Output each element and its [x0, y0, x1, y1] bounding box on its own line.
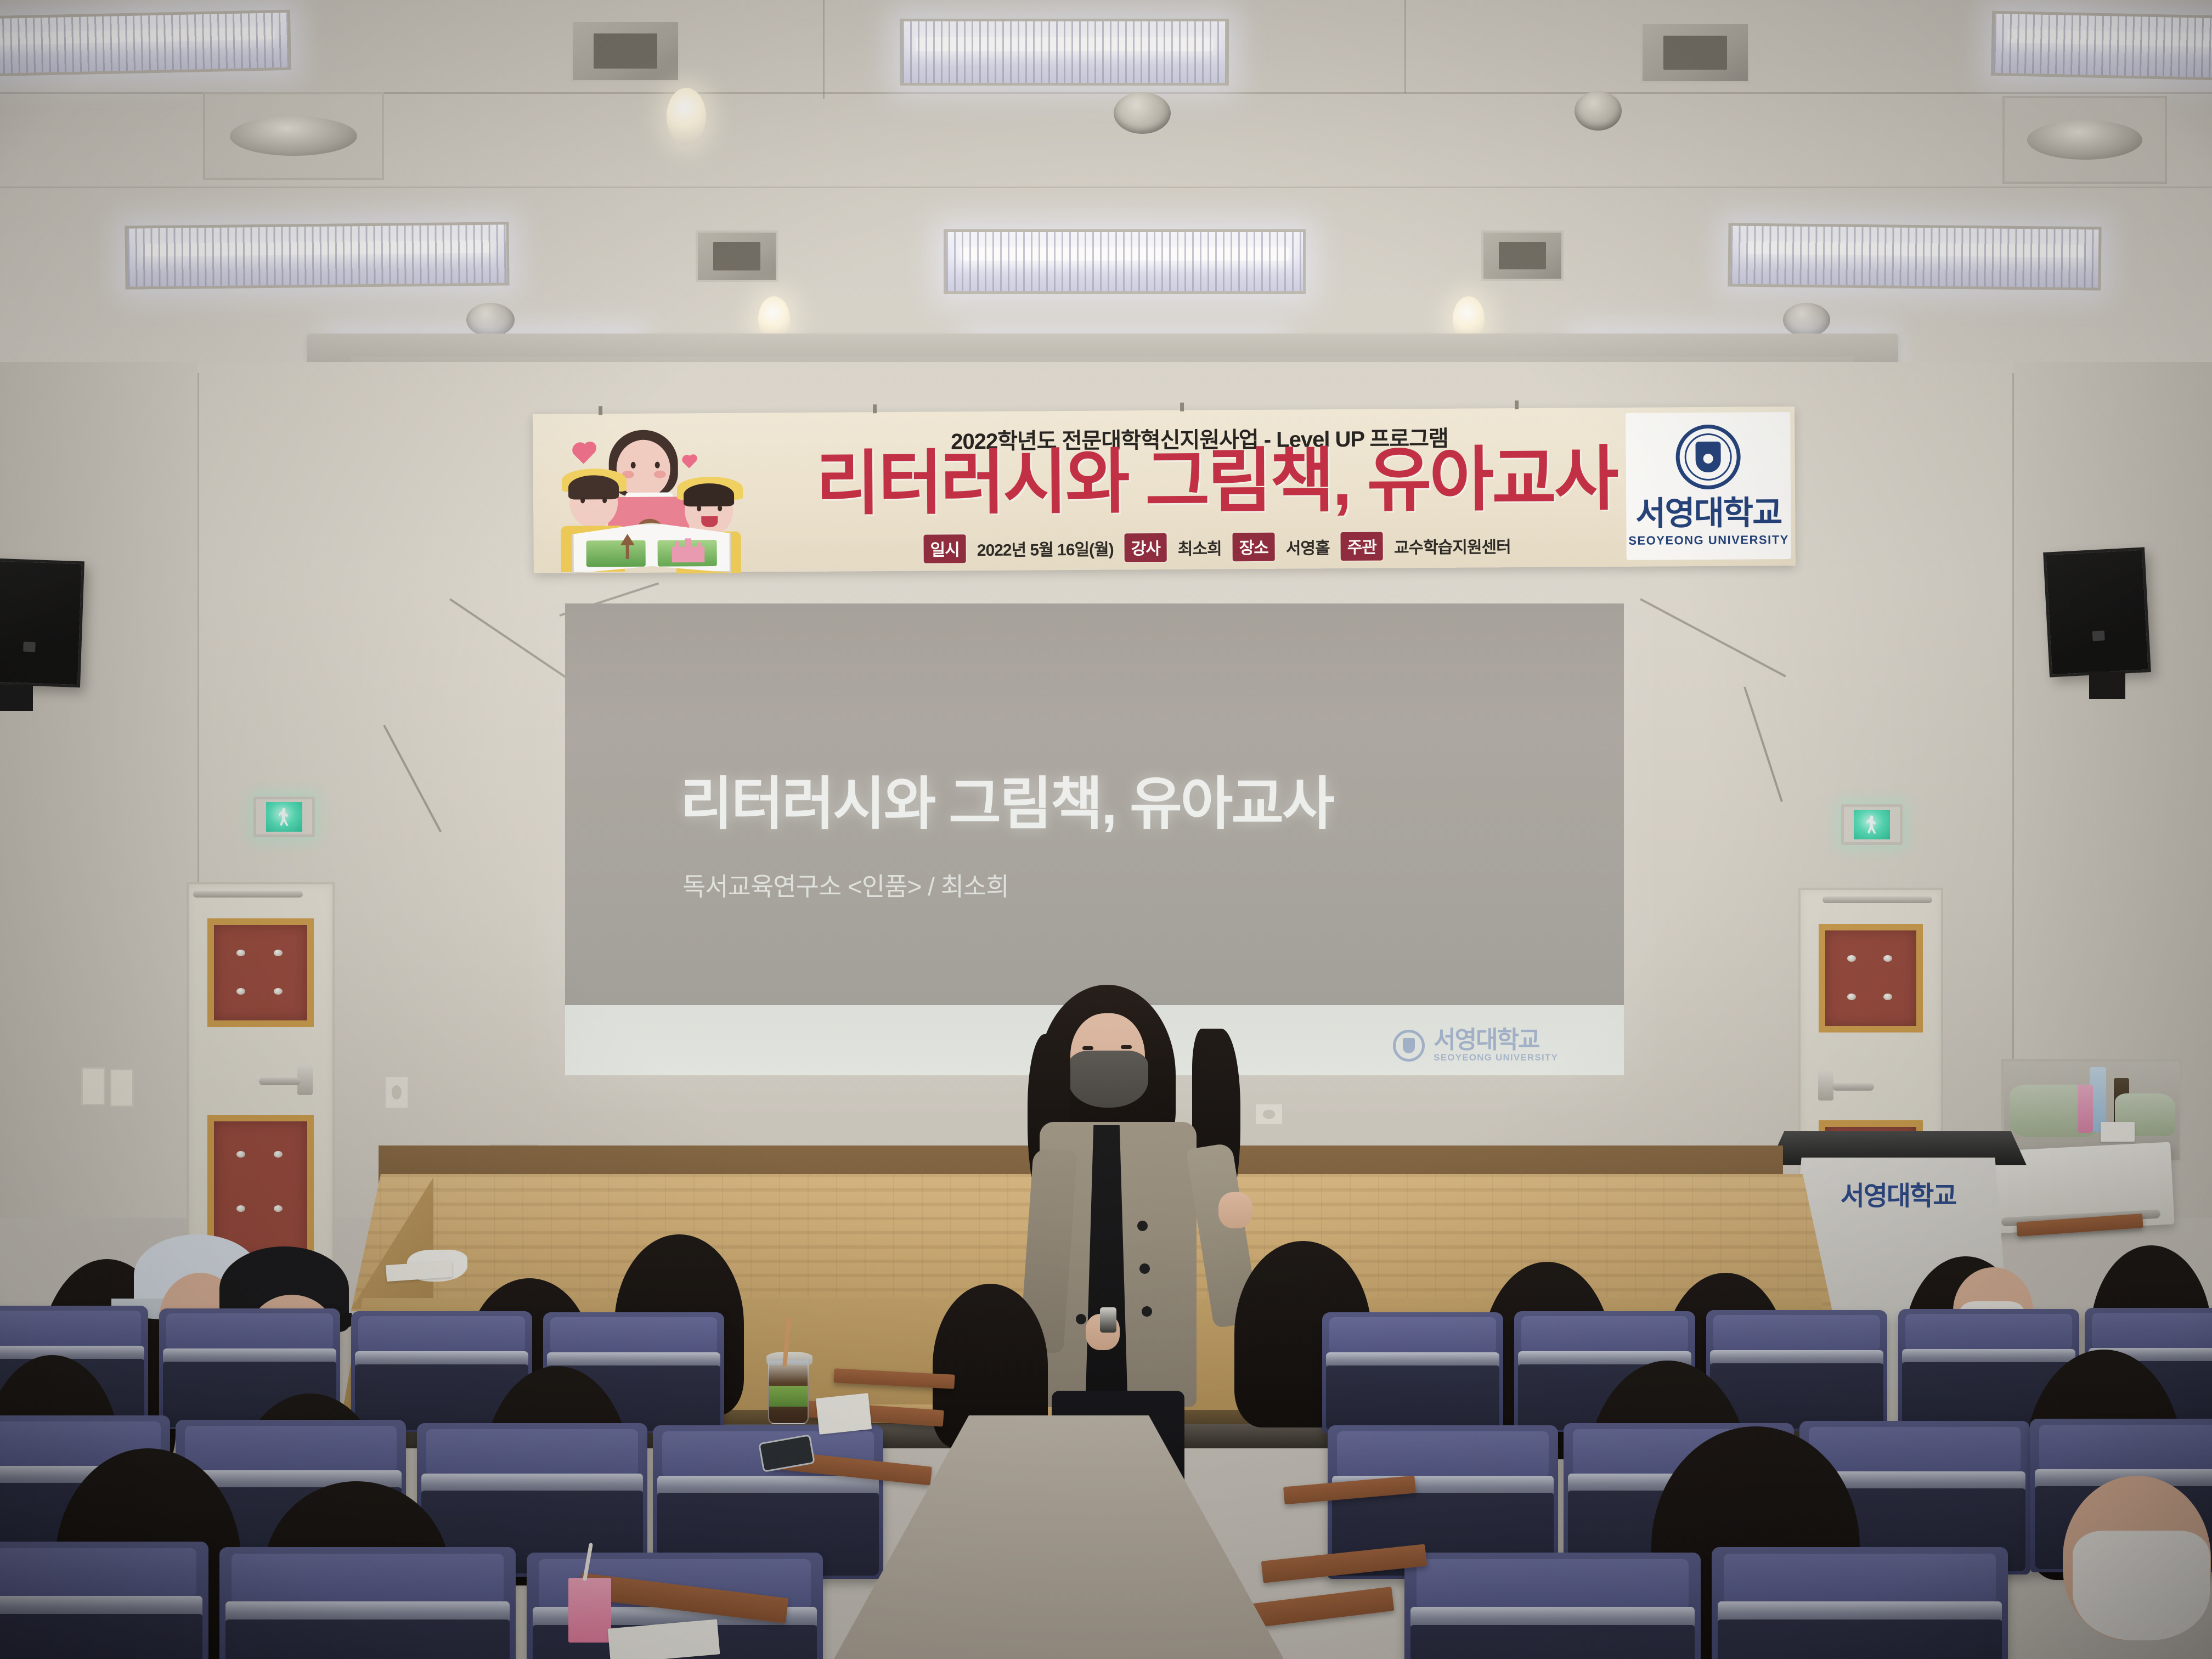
exit-green-panel [266, 802, 302, 832]
lecture-hall-photo: 2022학년도 전문대학혁신지원사업 - Level UP 프로그램 리터러시와… [0, 0, 2212, 1659]
banner-clip [1180, 403, 1184, 411]
seat[interactable] [219, 1547, 516, 1659]
university-name-kr: 서영대학교 [1635, 496, 1781, 531]
ceiling-light [0, 10, 291, 77]
wall-speaker-left [0, 558, 84, 687]
info-value-host: 교수학습지원센터 [1394, 533, 1511, 558]
door-handle[interactable] [259, 1077, 301, 1085]
slide-subtitle: 독서교육연구소 <인품> / 최소희 [682, 867, 1451, 903]
info-label-date: 일시 [922, 533, 967, 564]
ceiling-diffuser [2002, 96, 2167, 184]
handout-paper [816, 1393, 872, 1435]
ceiling-light [944, 229, 1306, 294]
heart-icon [683, 456, 696, 469]
running-man-icon [1866, 815, 1877, 834]
ceiling-downlight [667, 88, 706, 145]
presenter-clicker [1100, 1307, 1116, 1333]
presenter-eye [1082, 1046, 1093, 1050]
event-banner: 2022학년도 전문대학혁신지원사업 - Level UP 프로그램 리터러시와… [533, 407, 1796, 573]
door-handle[interactable] [1832, 1083, 1874, 1091]
door-left[interactable] [187, 882, 335, 1266]
slide-logo-name-kr: 서영대학교 [1434, 1028, 1558, 1052]
door-panel-upper [207, 918, 314, 1027]
banner-clip [599, 406, 602, 415]
slide-logo-name-en: SEOYEONG UNIVERSITY [1434, 1052, 1558, 1063]
seat[interactable] [1322, 1312, 1503, 1433]
speaker-bracket [0, 685, 33, 711]
info-value-date: 2022년 5월 16일(월) [977, 536, 1114, 561]
info-label-speaker: 강사 [1123, 532, 1168, 563]
seat[interactable] [0, 1542, 208, 1659]
running-man-icon [279, 808, 290, 826]
info-label-venue: 장소 [1231, 532, 1276, 562]
pink-bottle [2078, 1085, 2093, 1133]
slide-university-logo: 서영대학교 SEOYEONG UNIVERSITY [1393, 1028, 1558, 1063]
info-value-speaker: 최소희 [1178, 535, 1222, 559]
info-value-venue: 서영홀 [1286, 534, 1330, 558]
exit-green-panel [1854, 810, 1890, 839]
ceiling-light [900, 19, 1229, 86]
door-handle-base[interactable] [1818, 1071, 1833, 1101]
ceiling-sensor [1575, 91, 1622, 131]
light-switch-plate[interactable] [110, 1069, 134, 1107]
ceiling-diffuser [203, 92, 384, 180]
iced-coffee-cup [768, 1359, 809, 1424]
wall-outlet[interactable] [384, 1075, 409, 1109]
door-closer [1822, 896, 1932, 903]
ceiling-speaker [1114, 92, 1171, 134]
podium-label: 서영대학교 [1810, 1174, 1986, 1212]
door-closer [193, 891, 303, 898]
banner-clip [1515, 400, 1519, 409]
banner-clip [873, 404, 877, 413]
exit-sign-right [1841, 804, 1903, 845]
ceiling-vent [571, 20, 680, 82]
seat[interactable] [1404, 1553, 1701, 1659]
speaker-bracket [2089, 672, 2125, 699]
pink-juice-carton [568, 1578, 611, 1643]
banner-title: 리터러시와 그림책, 유아교사 [761, 441, 1672, 522]
ceiling-light [1991, 11, 2212, 83]
heart-icon [574, 444, 594, 464]
cup-label [769, 1386, 808, 1407]
audience-face-mask [2073, 1531, 2210, 1640]
presenter-eye [1121, 1045, 1132, 1049]
presenter-hand-right [1218, 1192, 1252, 1228]
university-seal-icon [1675, 425, 1741, 490]
ceiling-vent [696, 230, 778, 282]
exit-sign-left [253, 797, 315, 837]
ceiling-speaker [466, 303, 515, 337]
seat[interactable] [1712, 1547, 2008, 1659]
wall-outlet[interactable] [1254, 1103, 1284, 1126]
wall-speaker-right [2043, 547, 2151, 677]
university-name-en: SEOYEONG UNIVERSITY [1628, 533, 1789, 548]
banner-info-row: 일시 2022년 5월 16일(월) 강사 최소희 장소 서영홀 주관 교수학습… [761, 529, 1672, 565]
banner-university-logo: 서영대학교 SEOYEONG UNIVERSITY [1626, 412, 1791, 560]
info-label-host: 주관 [1339, 531, 1384, 562]
ceiling-light [1728, 223, 2101, 290]
university-seal-icon [1393, 1030, 1425, 1062]
cup-lid [766, 1352, 812, 1365]
light-switch-plate[interactable] [81, 1067, 105, 1105]
ceiling-light [125, 222, 509, 289]
door-panel-upper [1819, 924, 1922, 1032]
napkin [2101, 1122, 2135, 1142]
ceiling-vent [1481, 230, 1564, 281]
ceiling-speaker [1783, 303, 1830, 337]
ceiling [0, 0, 2212, 384]
presenter-face-mask [1068, 1051, 1148, 1108]
banner-illustration [538, 420, 759, 572]
slide-title: 리터러시와 그림책, 유아교사 [680, 757, 1536, 840]
ceiling-vent [1640, 22, 1750, 83]
